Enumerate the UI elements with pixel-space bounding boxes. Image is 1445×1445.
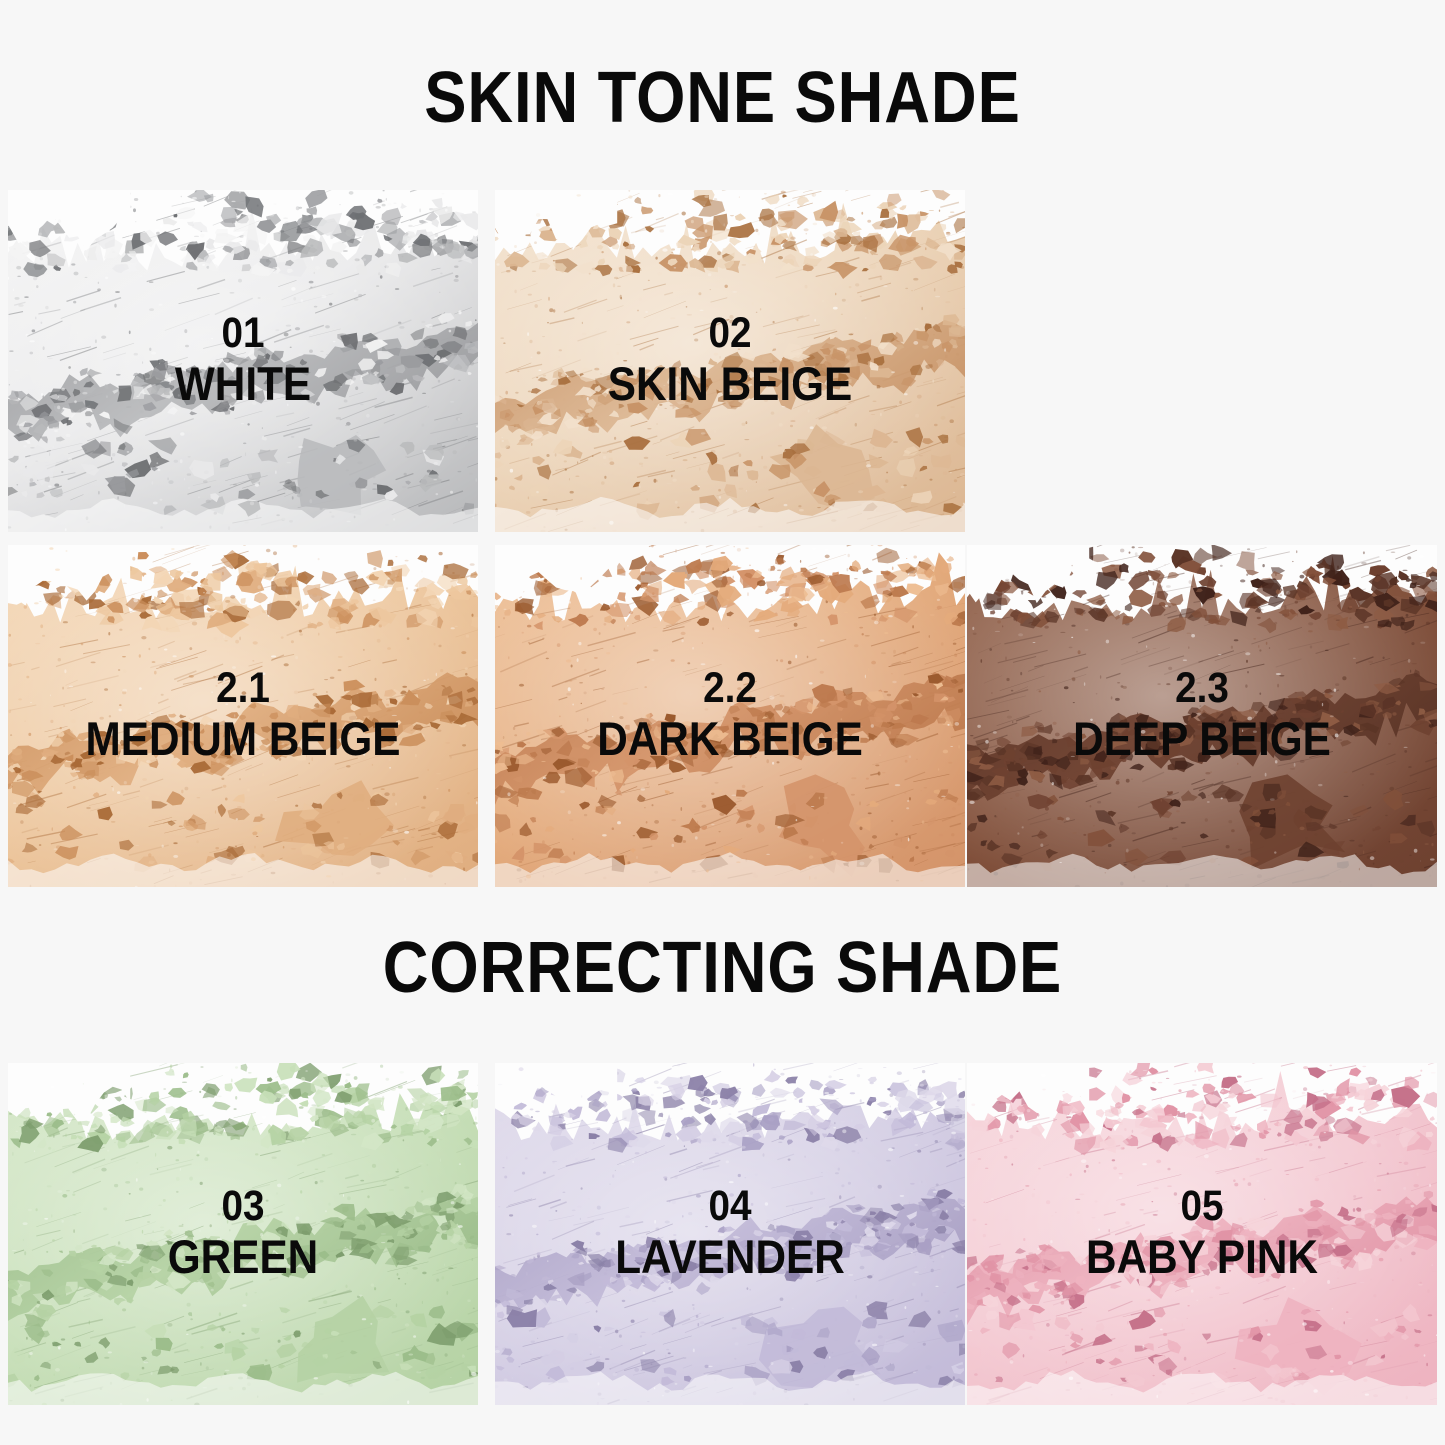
- shade-swatch-21-medium-beige[interactable]: 2.1MEDIUM BEIGE: [8, 545, 478, 887]
- shade-code: 2.1: [32, 666, 455, 711]
- shade-name: GREEN: [32, 1233, 455, 1282]
- shade-code: 03: [32, 1184, 455, 1229]
- shade-label: 2.3DEEP BEIGE: [967, 666, 1437, 764]
- shade-chart-page: SKIN TONE SHADE 01WHITE 02SKIN BEIGE 2.1…: [0, 0, 1445, 1445]
- shade-code: 02: [519, 311, 942, 356]
- shade-label: 03GREEN: [8, 1184, 478, 1282]
- shade-name: LAVENDER: [519, 1233, 942, 1282]
- shade-label: 04LAVENDER: [495, 1184, 965, 1282]
- shade-label: 05BABY PINK: [967, 1184, 1437, 1282]
- shade-swatch-22-dark-beige[interactable]: 2.2DARK BEIGE: [495, 545, 965, 887]
- shade-name: SKIN BEIGE: [519, 360, 942, 409]
- shade-name: DEEP BEIGE: [991, 715, 1414, 764]
- shade-swatch-03-green[interactable]: 03GREEN: [8, 1063, 478, 1405]
- shade-label: 02SKIN BEIGE: [495, 311, 965, 409]
- shade-code: 2.3: [991, 666, 1414, 711]
- shade-label: 01WHITE: [8, 311, 478, 409]
- shade-code: 05: [991, 1184, 1414, 1229]
- shade-code: 04: [519, 1184, 942, 1229]
- skin-tone-shade-heading: SKIN TONE SHADE: [87, 62, 1359, 134]
- correcting-shade-heading: CORRECTING SHADE: [87, 932, 1359, 1004]
- shade-swatch-04-lavender[interactable]: 04LAVENDER: [495, 1063, 965, 1405]
- shade-swatch-05-baby-pink[interactable]: 05BABY PINK: [967, 1063, 1437, 1405]
- shade-swatch-23-deep-beige[interactable]: 2.3DEEP BEIGE: [967, 545, 1437, 887]
- shade-name: WHITE: [32, 360, 455, 409]
- shade-name: MEDIUM BEIGE: [32, 715, 455, 764]
- shade-swatch-01-white[interactable]: 01WHITE: [8, 190, 478, 532]
- shade-swatch-02-skin-beige[interactable]: 02SKIN BEIGE: [495, 190, 965, 532]
- shade-label: 2.2DARK BEIGE: [495, 666, 965, 764]
- shade-label: 2.1MEDIUM BEIGE: [8, 666, 478, 764]
- shade-name: BABY PINK: [991, 1233, 1414, 1282]
- shade-code: 2.2: [519, 666, 942, 711]
- shade-code: 01: [32, 311, 455, 356]
- shade-name: DARK BEIGE: [519, 715, 942, 764]
